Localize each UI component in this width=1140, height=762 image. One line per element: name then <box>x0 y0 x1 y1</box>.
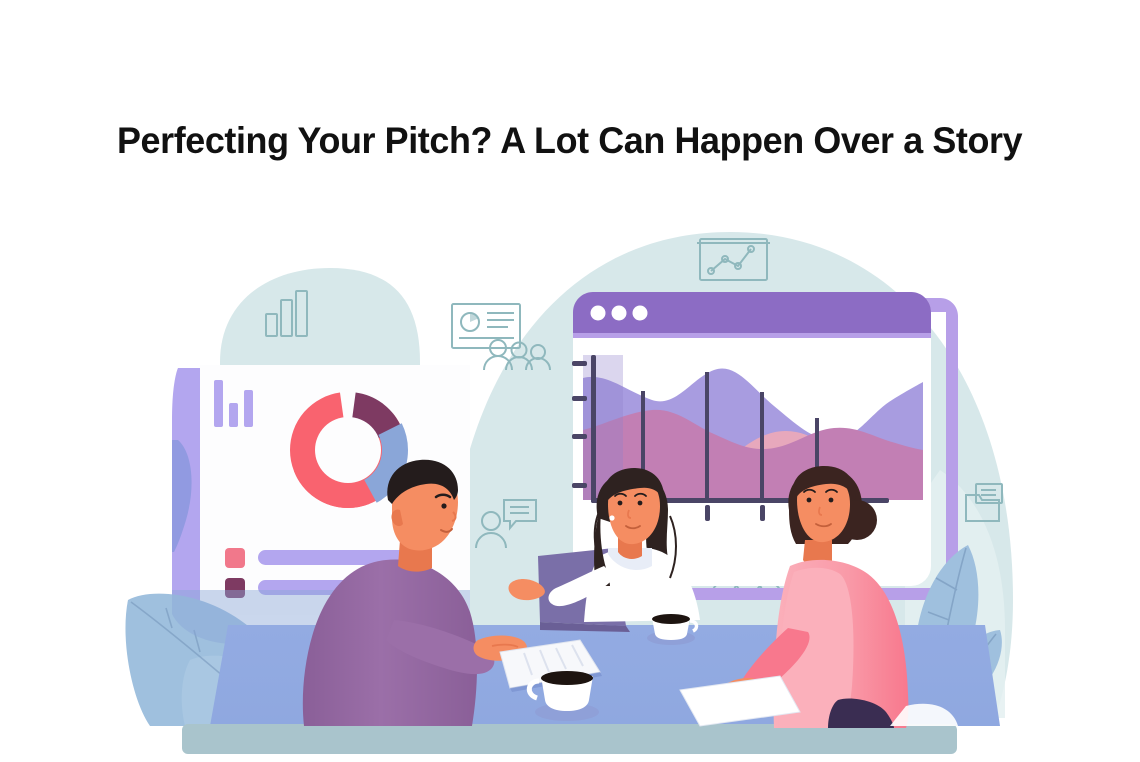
y-tick-1 <box>572 361 587 366</box>
man-eye <box>441 503 446 508</box>
legend-swatch-1 <box>225 548 245 568</box>
mini-bar-1 <box>214 380 223 427</box>
mini-bar-2 <box>229 403 238 427</box>
blob-small-left <box>220 268 420 372</box>
y-tick-2 <box>572 396 587 401</box>
chart-y-axis <box>591 355 596 503</box>
woman-right-eye-right <box>829 498 834 503</box>
browser-dot-1[interactable] <box>591 306 606 321</box>
mini-bar-3 <box>244 390 253 427</box>
page-root: Perfecting Your Pitch? A Lot Can Happen … <box>0 0 1140 762</box>
marker-line-3 <box>760 392 764 500</box>
presentation-chart-icon <box>452 304 520 348</box>
browser-header-underline <box>573 333 931 338</box>
donut-hole <box>315 417 381 483</box>
browser-dot-2[interactable] <box>612 306 627 321</box>
browser-header <box>573 292 931 333</box>
x-tick-2 <box>760 505 765 521</box>
x-tick-1 <box>705 505 710 521</box>
cup-front-coffee <box>541 671 593 685</box>
cup-right-coffee <box>652 614 690 624</box>
woman-right-eye-left <box>807 498 812 503</box>
browser-dot-3[interactable] <box>633 306 648 321</box>
y-tick-4 <box>572 483 587 488</box>
marker-line-2 <box>705 372 709 500</box>
table-edge <box>182 724 957 754</box>
woman-center-eye-right <box>638 501 643 506</box>
woman-center-eye-left <box>618 501 623 506</box>
illustration <box>0 0 1140 762</box>
y-tick-3 <box>572 434 587 439</box>
woman-center-earring <box>609 515 614 520</box>
